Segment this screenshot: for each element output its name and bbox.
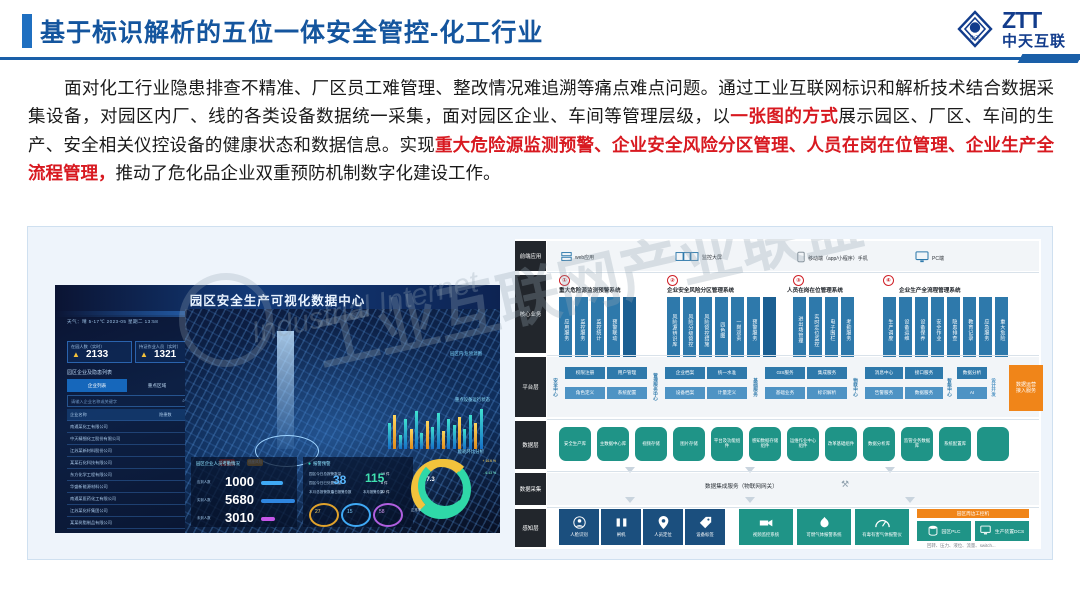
core-box[interactable]: 进出场管理 <box>793 297 806 363</box>
attendance-value: 3010 <box>225 511 254 524</box>
list-item[interactable]: 江苏某化纤集团公司 <box>67 505 187 517</box>
platform-box[interactable]: 角色定义 <box>565 387 605 399</box>
data-store-box[interactable]: 系统配置库 <box>939 427 971 461</box>
list-header-count: 隐患数 <box>159 412 172 418</box>
core-box[interactable]: 电子围栏 <box>825 297 838 363</box>
core-box[interactable]: 应急服务 <box>979 297 992 363</box>
zone-divider <box>547 471 1039 472</box>
frontend-zone <box>547 241 1039 271</box>
energy-panel-title: 能耗环比分析 <box>458 449 484 455</box>
terminal-pc[interactable]: PC端 <box>915 251 944 265</box>
core-box[interactable]: 实时定位监控 <box>809 297 822 363</box>
body-paragraph: 面对化工行业隐患排查不精准、厂区员工难管理、整改情况难追溯等痛点难点问题。通过工… <box>28 74 1054 187</box>
sensor-combustible-gas-alarm[interactable]: 可燃气体报警系统 <box>797 509 851 545</box>
terminal-mobile[interactable]: 移动端（app/小程序）手机 <box>797 251 868 265</box>
platform-box[interactable]: 告警服务 <box>865 387 903 399</box>
terminal-label: web应用 <box>575 254 594 261</box>
list-item-label: 南通某化工有限公司 <box>70 424 108 430</box>
sensor-device-tag[interactable]: 设备标签 <box>685 509 725 545</box>
core-box[interactable]: 预警联动 <box>607 297 620 363</box>
kpi-value: 2133 <box>86 349 108 360</box>
flow-arrow-up <box>905 497 915 503</box>
list-item-label: 某某石化科技有限公司 <box>70 460 112 466</box>
system-badge-2: ② <box>667 275 678 286</box>
terminal-web[interactable]: web应用 <box>561 251 594 264</box>
alarm-dot-icon: ● <box>308 461 311 467</box>
screen-icon <box>675 251 699 264</box>
core-box[interactable]: 风险源辨识库 <box>667 297 680 363</box>
phone-icon <box>797 251 805 265</box>
attendance-value: 5680 <box>225 493 254 506</box>
paragraph-segment-3: 推动了危化品企业双重预防机制数字化建设工作。 <box>116 163 501 183</box>
sensor-label: 人脸识别 <box>570 533 588 538</box>
today-alarm-label: 今日报警总数 <box>331 489 351 494</box>
attendance-label: 应到人数 <box>197 479 211 484</box>
platform-box[interactable]: 集成服务 <box>807 367 847 379</box>
data-bus-label: 数据集成服务（物联网网关） <box>705 482 778 490</box>
platform-box[interactable]: 消息中心 <box>865 367 903 379</box>
kpi-value: 1321 <box>154 349 176 360</box>
data-store-box[interactable]: 主数据中心库 <box>597 427 629 461</box>
data-operation-service-box[interactable]: 数据运营 接入服务 <box>1009 365 1043 411</box>
highlight-phrase-1: 一张图的方式 <box>730 106 838 126</box>
system-title-4: 企业生产全流程管理系统 <box>899 286 961 294</box>
brand-logo: 中天 ZTT 中天互联 <box>954 6 1066 52</box>
platform-box[interactable]: AI <box>957 387 987 399</box>
zone-divider <box>547 419 1039 420</box>
core-box[interactable]: 预警服务 <box>747 297 760 363</box>
device-status-bar-chart <box>388 405 492 449</box>
core-box[interactable]: 监控服务 <box>575 297 588 363</box>
core-box[interactable]: 安全作业 <box>931 297 944 363</box>
core-box[interactable]: 设备运维 <box>899 297 912 363</box>
search-placeholder: 请输入企业名称或关键字 <box>71 399 117 405</box>
attendance-bar <box>261 481 283 485</box>
list-item-label: 江苏某化纤集团公司 <box>70 508 108 514</box>
data-store-box[interactable]: 图片存储 <box>673 427 705 461</box>
sensor-label: 可燃气体报警系统 <box>806 533 841 538</box>
status-donut-legend-1: 正常率 <box>411 507 421 512</box>
layer-label-platform: 平台层 <box>515 357 546 417</box>
terminal-bigscreen[interactable]: 监控大屏 <box>675 251 722 264</box>
logo-subtitle: 中天互联 <box>1002 34 1066 49</box>
tab-key-areas[interactable]: 重点区域 <box>127 379 187 392</box>
plc-label: 园区PLC <box>942 528 961 535</box>
flow-arrow-up <box>745 467 755 473</box>
sensor-personnel-location[interactable]: 人员定位 <box>643 509 683 545</box>
company-list-tabs[interactable]: 企业列表 重点区域 <box>67 379 187 392</box>
sensor-label: 人员定位 <box>654 533 672 538</box>
zone-divider <box>547 507 1039 508</box>
list-item[interactable]: 中天精细化工股份有限公司 <box>67 433 187 445</box>
dcs-box[interactable]: 生产装置DCS <box>975 521 1029 541</box>
industrial-pc-bar: 园区周边工控机 <box>917 509 1029 518</box>
layer-label-data: 数据层 <box>515 421 546 469</box>
data-store-box[interactable]: 数据分析库 <box>863 427 895 461</box>
attendance-label: 未到人数 <box>197 515 211 520</box>
park-3d-map[interactable]: 中度风险 低度风险 园区内 危险源图 重点设备运行状态 园区企业人员考勤情况 1… <box>185 309 500 533</box>
gateway-icon: ⚒ <box>841 479 849 490</box>
sensor-label: 视频监控系统 <box>753 533 779 538</box>
core-box[interactable]: 隐患排查 <box>947 297 960 363</box>
platform-box[interactable]: 数据服务 <box>905 387 943 399</box>
mini-gauge <box>341 503 371 527</box>
architecture-diagram: 前端应用 核心业务 平台层 数据层 数据采集 感知层 web应用 监控大屏 <box>515 239 1041 549</box>
svg-text:中天: 中天 <box>970 35 980 42</box>
platform-box[interactable]: 计量定义 <box>707 387 747 399</box>
server-icon <box>561 251 572 264</box>
gauge-icon <box>875 517 890 531</box>
list-item[interactable]: 某某树脂制品有限公司 <box>67 517 187 529</box>
core-box-spacer <box>623 297 636 363</box>
platform-group-label: 设计开发 <box>989 365 999 409</box>
list-item-label: 南通某医药化工有限公司 <box>70 496 116 502</box>
layer-label-frontend: 前端应用 <box>515 241 546 271</box>
platform-box[interactable]: 权限注册 <box>565 367 605 379</box>
core-box[interactable]: 风险分级管控 <box>683 297 696 363</box>
camera-icon <box>759 517 774 531</box>
platform-group-label: 智能中心 <box>945 365 955 409</box>
terminal-label: 监控大屏 <box>702 254 722 261</box>
list-item-label: 东方化学工程有限公司 <box>70 472 112 478</box>
system-badge-4: ④ <box>883 275 894 286</box>
map-overlay-label: 园区内 危险源图 <box>450 351 482 357</box>
core-box[interactable]: 应用服务 <box>559 297 572 363</box>
energy-delta-1: + 16.6 % <box>483 459 496 463</box>
list-header-row: 企业名称 隐患数 <box>67 409 187 421</box>
device-status-title: 重点设备运行状态 <box>455 397 490 403</box>
monitor-icon <box>980 525 991 537</box>
kpi-card: 在园人数（实时） ▲ 2133 <box>67 341 132 363</box>
data-store-box[interactable]: 改革基础组件 <box>825 427 857 461</box>
mini-gauge-value: 15 <box>347 509 353 515</box>
platform-group-label: 物联中心 <box>851 365 861 409</box>
list-item-label: 华盛新能源材料公司 <box>70 484 108 490</box>
data-store-box[interactable]: 运维作业中心组件 <box>787 427 819 461</box>
page-title: 基于标识解析的五位一体安全管控-化工行业 <box>40 13 543 49</box>
terminal-label: 移动端（app/小程序）手机 <box>808 255 868 262</box>
ztt-diamond-icon: 中天 <box>954 8 996 50</box>
platform-box[interactable]: 统一水准 <box>707 367 747 379</box>
attendance-panel: 园区企业人员考勤情况 1000 5680 3010 应到人数 实到人数 未到人数 <box>191 457 297 527</box>
terminal-label: PC端 <box>932 255 944 262</box>
data-store-box[interactable] <box>977 427 1009 461</box>
flow-arrow-up <box>625 467 635 473</box>
sensor-label: 设备标签 <box>696 533 714 538</box>
helmet-icon: ▲ <box>72 350 80 359</box>
system-title-1: 重大危险源监测预警系统 <box>559 286 621 294</box>
flow-arrow-up <box>745 497 755 503</box>
title-accent-bar <box>22 14 32 48</box>
core-box-spacer <box>763 297 776 363</box>
data-store-box[interactable]: 监管业务数据库 <box>901 427 933 461</box>
slide-header: 基于标识解析的五位一体安全管控-化工行业 中天 ZTT 中天互联 <box>0 0 1080 62</box>
tag-icon <box>699 516 712 531</box>
helmet-icon: ▲ <box>140 350 148 359</box>
month-alarm-label: 本月报警总数 <box>363 489 383 494</box>
sensor-face-id[interactable]: 人脸识别 <box>559 509 599 545</box>
core-box[interactable]: 一岗双责 <box>731 297 744 363</box>
list-item[interactable]: 南通某化工有限公司 <box>67 421 187 433</box>
data-store-box[interactable]: 平台及功能组件 <box>711 427 743 461</box>
attendance-label: 实到人数 <box>197 497 211 502</box>
attendance-title: 园区企业人员考勤情况 <box>191 457 297 467</box>
core-box[interactable]: 生产调度 <box>883 297 896 363</box>
zone-divider <box>547 355 1039 356</box>
list-section-heading: 园区企业及隐患列表 <box>67 369 112 376</box>
list-item-label: 某某树脂制品有限公司 <box>70 520 112 526</box>
core-box[interactable]: 监控统计 <box>591 297 604 363</box>
sensor-label: 有毒有害气体报警仪 <box>862 533 902 538</box>
sensor-label: 闸机 <box>617 533 626 538</box>
platform-box[interactable]: 数据分析 <box>957 367 987 379</box>
alarm-panel: 报警预警 ● 园区今日总报警数量 19 件 园区今日已处置数量 8 件 本月总报… <box>303 457 413 527</box>
month-alarm-total: 115 <box>365 471 384 485</box>
platform-box[interactable]: 设备档案 <box>665 387 705 399</box>
list-item-label: 江苏某新材料股份公司 <box>70 448 112 454</box>
data-store-box[interactable]: 感知数据存储组件 <box>749 427 781 461</box>
platform-group-label: 管理服务中心 <box>651 365 661 409</box>
core-box[interactable]: 四色图 <box>715 297 728 363</box>
search-input[interactable]: 请输入企业名称或关键字 ⌕ <box>67 395 189 407</box>
layer-label-collect: 数据采集 <box>515 473 546 505</box>
platform-box[interactable]: 企业档案 <box>665 367 705 379</box>
figure-container: 园区安全生产可视化数据中心 天气：晴 5-17℃ 2023-05 星期二 13:… <box>27 226 1053 560</box>
attendance-bar <box>261 499 295 503</box>
zone-divider <box>547 272 1039 273</box>
list-header-name: 企业名称 <box>70 412 87 418</box>
layer-label-core: 核心业务 <box>515 275 546 353</box>
list-item[interactable]: 南通某医药化工有限公司 <box>67 493 187 505</box>
alarm-title: 报警预警 <box>303 457 413 467</box>
data-store-box[interactable]: 安全生产库 <box>559 427 591 461</box>
today-alarm-total: 38 <box>333 473 346 487</box>
gate-icon <box>615 516 628 531</box>
plc-box[interactable]: 园区PLC <box>917 521 971 541</box>
layer-label-column: 前端应用 核心业务 平台层 数据层 数据采集 感知层 <box>515 239 546 549</box>
core-box[interactable]: 风险管控措施 <box>699 297 712 363</box>
attendance-bar <box>261 517 275 521</box>
list-item[interactable]: 华盛新能源材料公司 <box>67 481 187 493</box>
flow-arrow-up <box>625 497 635 503</box>
platform-box[interactable]: 接口服务 <box>905 367 943 379</box>
flame-icon <box>818 516 831 531</box>
dashboard-screenshot: 园区安全生产可视化数据中心 天气：晴 5-17℃ 2023-05 星期二 13:… <box>55 285 500 533</box>
mini-gauge-value: 27 <box>315 509 321 515</box>
header-divider <box>0 57 1080 60</box>
platform-box[interactable]: GIS服务 <box>765 367 805 379</box>
monitor-icon <box>915 251 929 265</box>
platform-box[interactable]: 基础业务 <box>765 387 805 399</box>
platform-box[interactable]: 用户管理 <box>607 367 647 379</box>
sensor-video-monitoring[interactable]: 视频监控系统 <box>739 509 793 545</box>
dashboard-meta: 天气：晴 5-17℃ 2023-05 星期二 13:58 <box>67 319 158 325</box>
core-box[interactable]: 设备保养 <box>915 297 928 363</box>
location-pin-icon <box>658 516 669 531</box>
sensor-toxic-gas-alarm[interactable]: 有毒有害气体报警仪 <box>855 509 909 545</box>
list-item[interactable]: 东方化学工程有限公司 <box>67 469 187 481</box>
list-item-label: 中天精细化工股份有限公司 <box>70 436 120 442</box>
dcs-label: 生产装置DCS <box>995 528 1024 535</box>
attendance-value: 1000 <box>225 475 254 488</box>
platform-group-label: 安全中心 <box>551 365 561 409</box>
flow-arrow-up <box>885 467 895 473</box>
map-focus-beam <box>277 331 294 449</box>
core-box[interactable]: 教育记录 <box>963 297 976 363</box>
mini-gauge-value: 58 <box>379 509 385 515</box>
data-collection-zone <box>547 473 1039 505</box>
platform-box[interactable]: 标识解析 <box>807 387 847 399</box>
sensor-gate[interactable]: 闸机 <box>601 509 641 545</box>
face-id-icon <box>573 516 586 531</box>
core-box[interactable]: 重大危险 <box>995 297 1008 363</box>
system-badge-1: ① <box>559 275 570 286</box>
energy-donut-chart <box>418 459 472 513</box>
energy-delta-2: - 6.43 % <box>483 471 496 475</box>
dashboard-title: 园区安全生产可视化数据中心 <box>55 290 500 309</box>
mini-gauge <box>373 503 403 527</box>
tab-company-list[interactable]: 企业列表 <box>67 379 127 392</box>
platform-group-label: 基础服务 <box>751 365 761 409</box>
core-box[interactable]: 考勤服务 <box>841 297 854 363</box>
database-icon <box>928 525 938 538</box>
layer-label-sensing: 感知层 <box>515 509 546 547</box>
mini-gauge <box>309 503 339 527</box>
system-badge-3: ③ <box>793 275 804 286</box>
logo-wordmark: ZTT <box>1002 9 1066 32</box>
platform-box[interactable]: 系统配置 <box>607 387 647 399</box>
list-item[interactable]: 某某石化科技有限公司 <box>67 457 187 469</box>
dcs-note: 回转、压力、液位、流量、switch... <box>927 543 996 549</box>
system-title-3: 人员在岗在位管理系统 <box>787 286 843 294</box>
list-item[interactable]: 江苏某新材料股份公司 <box>67 445 187 457</box>
data-store-box[interactable]: 视频存储 <box>635 427 667 461</box>
system-title-2: 企业安全风险分区管理系统 <box>667 286 734 294</box>
